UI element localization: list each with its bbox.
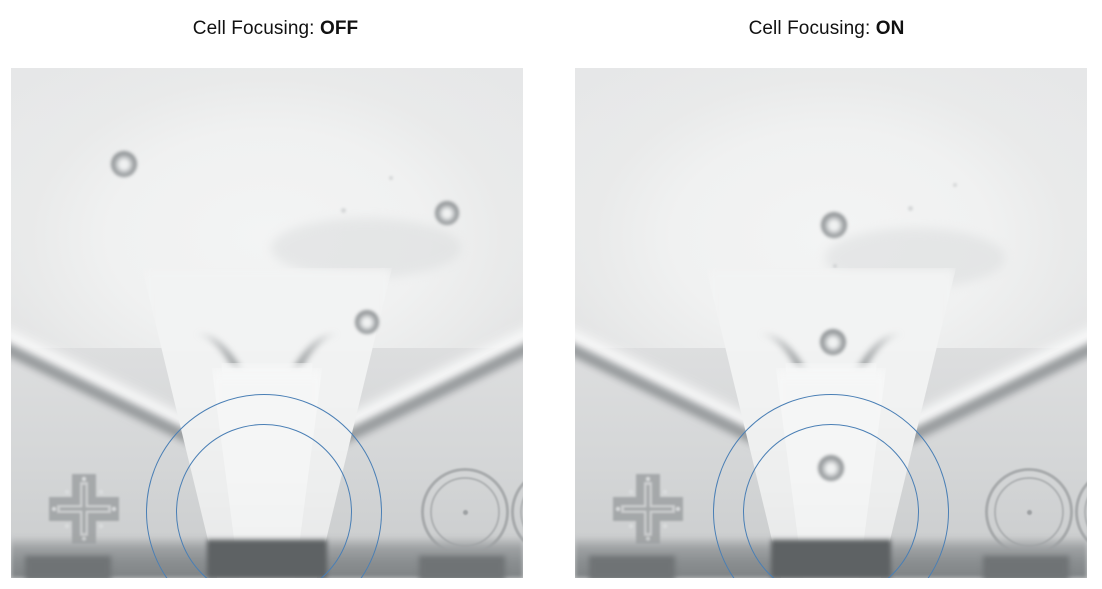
cell-focusing-comparison-figure: Cell Focusing: OFF [0, 0, 1102, 589]
bottom-band-notch-off-2 [419, 556, 505, 578]
bottom-band-notch-on-2 [983, 556, 1069, 578]
panel-title-on: Cell Focusing: ON [551, 18, 1102, 40]
panel-title-off: Cell Focusing: OFF [0, 18, 551, 40]
cell-off-3 [355, 310, 379, 334]
panel-title-on-state: ON [876, 18, 905, 39]
cell-on-3 [818, 455, 844, 481]
micrograph-image-off [11, 68, 523, 578]
cross-alignment-marker-on [611, 472, 685, 546]
debris-speck-off-1 [341, 208, 346, 213]
cell-off-2 [435, 201, 459, 225]
cross-alignment-marker-off [47, 472, 121, 546]
panel-title-off-prefix: Cell Focusing: [193, 18, 320, 39]
panel-cell-focusing-on: Cell Focusing: ON [551, 0, 1102, 589]
debris-speck-on-3 [953, 183, 957, 187]
cell-on-1 [821, 212, 847, 238]
debris-speck-on-2 [833, 264, 837, 268]
cell-on-2 [820, 329, 846, 355]
micrograph-image-on [575, 68, 1087, 578]
bottom-band-notch-off-1 [25, 556, 111, 578]
bottom-band-notch-on-1 [589, 556, 675, 578]
panel-title-off-state: OFF [320, 18, 358, 39]
panel-cell-focusing-off: Cell Focusing: OFF [0, 0, 551, 589]
cell-off-1 [111, 151, 137, 177]
debris-speck-off-2 [389, 176, 393, 180]
panel-title-on-prefix: Cell Focusing: [749, 18, 876, 39]
debris-speck-on-1 [908, 206, 913, 211]
